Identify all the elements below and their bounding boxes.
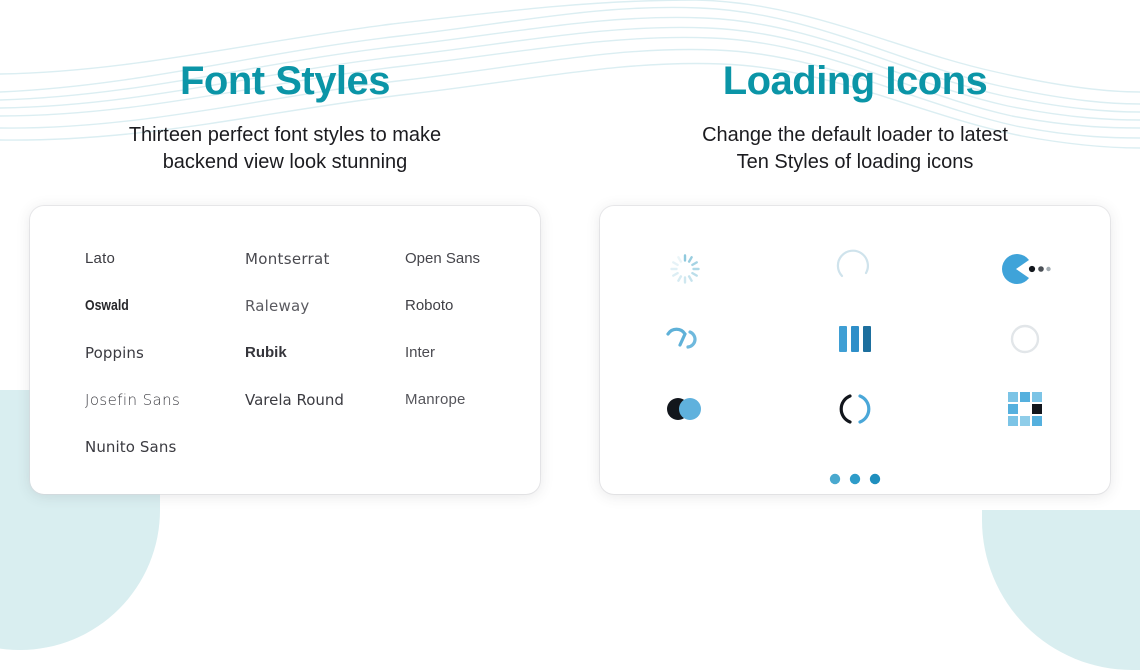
font-list-item[interactable]: Rubik bbox=[245, 342, 405, 365]
loader-item[interactable] bbox=[823, 377, 887, 441]
loader-item[interactable] bbox=[825, 454, 885, 504]
font-name-roboto: Roboto bbox=[405, 297, 453, 314]
three-bars-icon bbox=[834, 322, 876, 356]
font-name-poppins: Poppins bbox=[85, 344, 144, 362]
font-name-inter: Inter bbox=[405, 344, 435, 361]
spinner-ticks-icon bbox=[668, 252, 702, 286]
font-list-item[interactable]: Josefin Sans bbox=[85, 389, 245, 412]
font-name-raleway: Raleway bbox=[245, 297, 309, 315]
font-list-item[interactable]: Oswald bbox=[85, 295, 245, 318]
font-name-rubik: Rubik bbox=[245, 344, 287, 361]
loader-item[interactable] bbox=[823, 237, 887, 301]
font-name-varela-round: Varela Round bbox=[245, 391, 344, 409]
font-list-item[interactable]: Poppins bbox=[85, 342, 245, 365]
square-grid-icon bbox=[1007, 391, 1043, 427]
font-styles-card: Lato Montserrat Open Sans Oswald Raleway… bbox=[30, 206, 540, 494]
double-arc-comma-icon bbox=[663, 323, 707, 355]
loading-icons-panel: Loading Icons Change the default loader … bbox=[570, 0, 1140, 578]
font-list-item[interactable]: Roboto bbox=[405, 295, 535, 318]
font-list-spacer bbox=[405, 436, 535, 459]
loading-icons-card bbox=[600, 206, 1110, 494]
facing-brackets-icon bbox=[835, 391, 875, 427]
two-overlapping-circles-icon bbox=[662, 394, 708, 424]
loader-item[interactable] bbox=[993, 307, 1057, 371]
loader-item[interactable] bbox=[993, 237, 1057, 301]
loader-list bbox=[600, 234, 1110, 514]
font-styles-panel: Font Styles Thirteen perfect font styles… bbox=[0, 0, 570, 578]
font-list-item[interactable]: Varela Round bbox=[245, 389, 405, 412]
panels-container: Font Styles Thirteen perfect font styles… bbox=[0, 0, 1140, 578]
font-name-josefin-sans: Josefin Sans bbox=[85, 391, 180, 409]
font-styles-subtitle: Thirteen perfect font styles to make bac… bbox=[129, 104, 441, 176]
loader-item[interactable] bbox=[653, 237, 717, 301]
pacman-dots-icon bbox=[999, 252, 1051, 286]
font-name-oswald: Oswald bbox=[85, 295, 129, 317]
font-list-item[interactable]: Nunito Sans bbox=[85, 436, 245, 459]
font-name-nunito-sans: Nunito Sans bbox=[85, 438, 176, 456]
three-dots-icon bbox=[825, 469, 885, 489]
loader-item[interactable] bbox=[993, 377, 1057, 441]
ring-outline-icon bbox=[1008, 322, 1042, 356]
font-name-open-sans: Open Sans bbox=[405, 250, 480, 267]
font-styles-title: Font Styles bbox=[180, 0, 390, 104]
arc-partial-icon bbox=[835, 249, 875, 289]
font-list-item[interactable]: Montserrat bbox=[245, 248, 405, 271]
font-list: Lato Montserrat Open Sans Oswald Raleway… bbox=[85, 248, 540, 459]
font-list-spacer bbox=[245, 436, 405, 459]
loading-icons-title: Loading Icons bbox=[723, 0, 988, 104]
font-name-manrope: Manrope bbox=[405, 391, 466, 408]
font-list-item[interactable]: Inter bbox=[405, 342, 535, 365]
font-list-item[interactable]: Lato bbox=[85, 248, 245, 271]
font-name-montserrat: Montserrat bbox=[245, 250, 330, 268]
loader-item[interactable] bbox=[823, 307, 887, 371]
loader-item[interactable] bbox=[653, 377, 717, 441]
font-list-item[interactable]: Raleway bbox=[245, 295, 405, 318]
font-list-item[interactable]: Manrope bbox=[405, 389, 535, 412]
font-list-item[interactable]: Open Sans bbox=[405, 248, 535, 271]
loading-icons-subtitle: Change the default loader to latest Ten … bbox=[702, 104, 1008, 176]
loader-item[interactable] bbox=[653, 307, 717, 371]
font-name-lato: Lato bbox=[85, 250, 115, 267]
